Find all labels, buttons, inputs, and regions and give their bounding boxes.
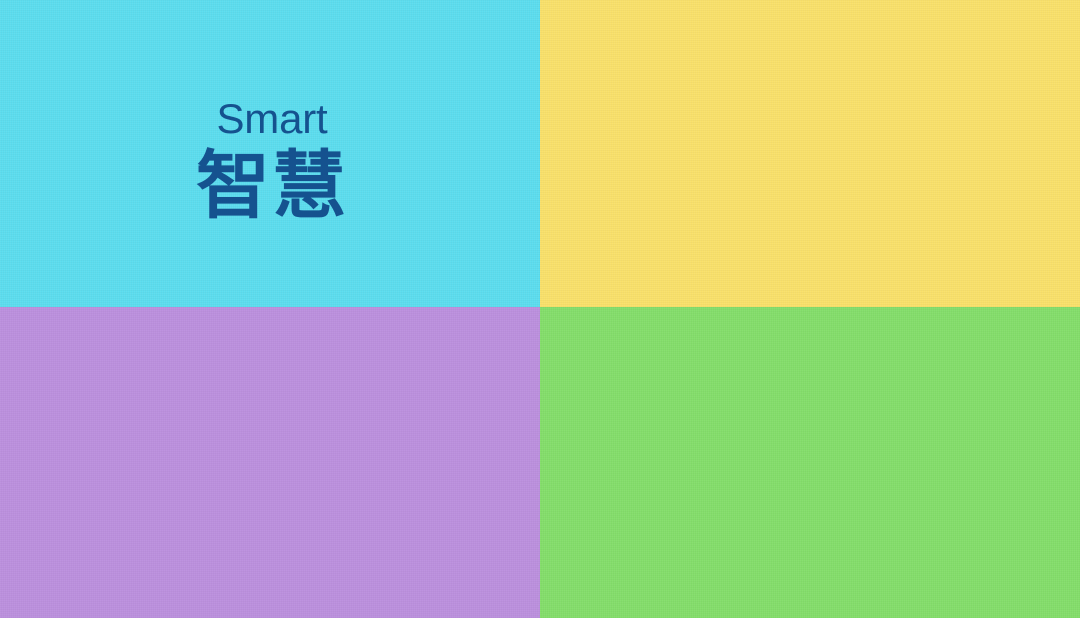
quadrant-innovative[interactable]: Innovative 創新 — [0, 307, 540, 618]
value-text-block-smart: Smart 智慧 — [196, 98, 348, 225]
value-label-en-smart: Smart — [216, 98, 327, 141]
value-label-zh-smart: 智慧 — [196, 147, 348, 225]
quadrant-sustainable[interactable]: Sustainable 永續 — [540, 307, 1080, 618]
quadrant-smart[interactable]: Smart 智慧 — [0, 0, 540, 307]
quadrant-energetic[interactable]: Energetic 活力 — [540, 0, 1080, 307]
brand-values-grid: Smart 智慧 Energetic 活力 Innovative 創新 Sust… — [0, 0, 1080, 618]
